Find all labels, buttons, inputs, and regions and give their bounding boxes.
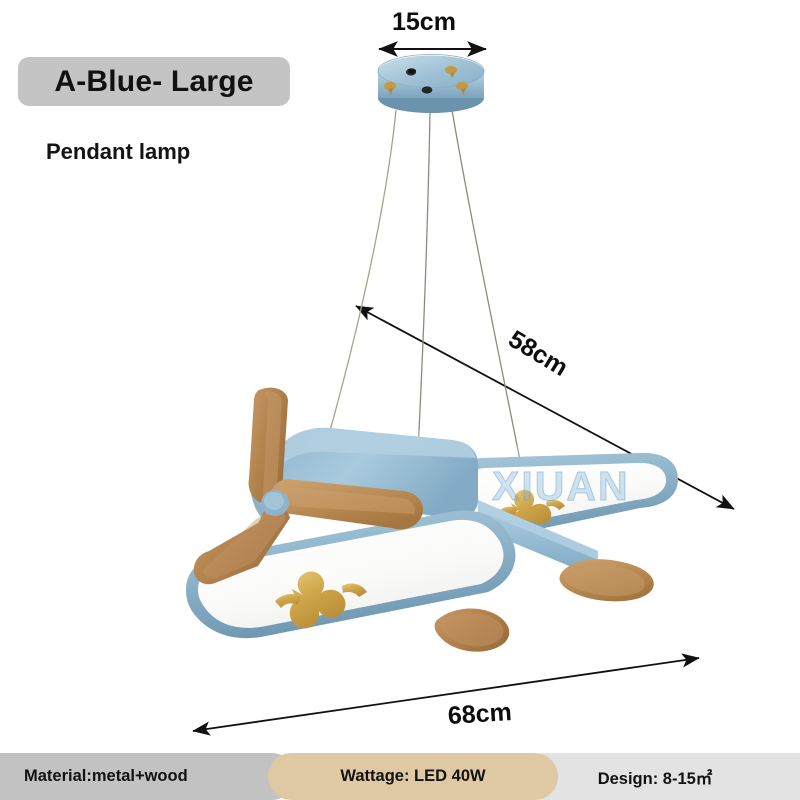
airplane-lamp-body	[165, 388, 678, 660]
suspension-cables	[324, 110, 520, 460]
dimension-label-width: 15cm	[392, 8, 456, 37]
spec-segment-wattage: Wattage: LED 40W	[268, 753, 558, 800]
dimension-arrow-wingspan	[193, 658, 699, 731]
product-spec-image: A-Blue- Large Pendant lamp 15cm 58cm 68c…	[0, 0, 800, 800]
spec-segment-material: Material:metal+wood	[0, 753, 295, 800]
spec-design-text: Design: 8-15㎡	[598, 765, 713, 789]
spec-wattage-text: Wattage: LED 40W	[340, 767, 485, 786]
ceiling-canopy	[378, 55, 484, 114]
variant-badge-label: A-Blue- Large	[54, 65, 253, 99]
pendant-lamp-illustration	[0, 0, 800, 800]
spec-material-text: Material:metal+wood	[24, 767, 188, 786]
dimension-label-wingspan: 68cm	[447, 698, 513, 731]
spec-bar: Material:metal+wood Design: 8-15㎡ Wattag…	[0, 753, 800, 800]
product-subtitle: Pendant lamp	[46, 139, 190, 165]
spec-segment-design: Design: 8-15㎡	[520, 753, 800, 800]
variant-badge: A-Blue- Large	[18, 57, 290, 106]
